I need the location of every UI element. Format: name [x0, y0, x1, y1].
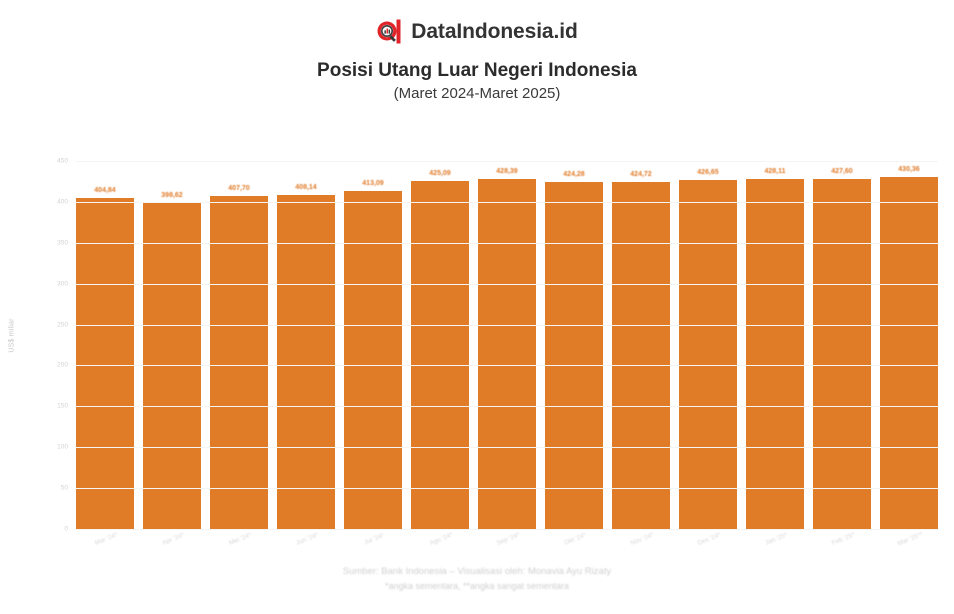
y-axis-tick-label: 50: [61, 485, 68, 492]
dataindonesia-magnifier-logo-icon: [376, 18, 402, 46]
bar-series: 404,84398,62407,70408,14413,09425,09428,…: [76, 161, 938, 529]
bar-column[interactable]: 408,14: [277, 161, 335, 529]
bar-rect[interactable]: [478, 179, 536, 529]
bar-column[interactable]: 427,60: [813, 161, 871, 529]
bar-value-label: 408,14: [295, 184, 316, 191]
y-axis-tick-label: 0: [64, 526, 68, 533]
bar-rect[interactable]: [210, 196, 268, 529]
bar-value-label: 425,09: [429, 170, 450, 177]
gridline: 200: [76, 365, 938, 366]
gridline: 150: [76, 406, 938, 407]
brand-header: DataIndonesia.id: [0, 18, 954, 46]
bar-value-label: 404,84: [94, 187, 115, 194]
bar-value-label: 427,60: [831, 168, 852, 175]
gridline: 0: [76, 529, 938, 530]
bar-column[interactable]: 426,65: [679, 161, 737, 529]
bar-rect[interactable]: [545, 182, 603, 529]
gridline: 350: [76, 243, 938, 244]
bar-column[interactable]: 428,11: [746, 161, 804, 529]
y-axis-tick-label: 100: [57, 444, 68, 451]
bar-value-label: 428,39: [496, 168, 517, 175]
bar-column[interactable]: 430,36: [880, 161, 938, 529]
bar-rect[interactable]: [76, 198, 134, 529]
page-title: Posisi Utang Luar Negeri Indonesia: [0, 60, 954, 82]
bar-column[interactable]: 398,62: [143, 161, 201, 529]
bar-rect[interactable]: [679, 180, 737, 529]
plot-area: 404,84398,62407,70408,14413,09425,09428,…: [76, 161, 938, 529]
bar-rect[interactable]: [746, 179, 804, 529]
bar-rect[interactable]: [277, 195, 335, 529]
bar-rect[interactable]: [880, 177, 938, 529]
bar-column[interactable]: 407,70: [210, 161, 268, 529]
footnote-text: *angka sementara, **angka sangat sementa…: [0, 581, 954, 591]
bar-column[interactable]: 404,84: [76, 161, 134, 529]
bar-value-label: 407,70: [228, 185, 249, 192]
bar-rect[interactable]: [411, 181, 469, 529]
gridline: 250: [76, 325, 938, 326]
source-text: Sumber: Bank Indonesia – Visualisasi ole…: [0, 566, 954, 577]
bar-column[interactable]: 413,09: [344, 161, 402, 529]
y-axis-tick-label: 200: [57, 362, 68, 369]
y-axis-tick-label: 250: [57, 321, 68, 328]
bar-chart: US$ miliar 404,84398,62407,70408,14413,0…: [0, 146, 954, 546]
gridline: 450: [76, 161, 938, 162]
y-axis-title: US$ miliar: [9, 306, 16, 366]
chart-footer: Sumber: Bank Indonesia – Visualisasi ole…: [0, 566, 954, 591]
bar-column[interactable]: 424,72: [612, 161, 670, 529]
bar-column[interactable]: 428,39: [478, 161, 536, 529]
gridline: 400: [76, 202, 938, 203]
bar-value-label: 424,28: [563, 171, 584, 178]
bar-rect[interactable]: [813, 179, 871, 529]
page-subtitle: (Maret 2024-Maret 2025): [0, 85, 954, 102]
bar-rect[interactable]: [612, 182, 670, 529]
bar-value-label: 424,72: [630, 171, 651, 178]
bar-column[interactable]: 425,09: [411, 161, 469, 529]
y-axis-tick-label: 150: [57, 403, 68, 410]
gridline: 50: [76, 488, 938, 489]
y-axis-tick-label: 300: [57, 280, 68, 287]
bar-value-label: 428,11: [764, 168, 785, 175]
gridline: 300: [76, 284, 938, 285]
y-axis-tick-label: 450: [57, 158, 68, 165]
bar-value-label: 430,36: [898, 166, 919, 173]
brand-name: DataIndonesia.id: [411, 20, 577, 44]
y-axis-tick-label: 400: [57, 198, 68, 205]
bar-column[interactable]: 424,28: [545, 161, 603, 529]
x-axis-labels: Mar '24*Apr '24*Mei '24*Jun '24*Jul '24*…: [76, 536, 938, 543]
bar-value-label: 413,09: [362, 180, 383, 187]
bar-value-label: 398,62: [161, 192, 182, 199]
bar-value-label: 426,65: [697, 169, 718, 176]
gridline: 100: [76, 447, 938, 448]
y-axis-tick-label: 350: [57, 239, 68, 246]
